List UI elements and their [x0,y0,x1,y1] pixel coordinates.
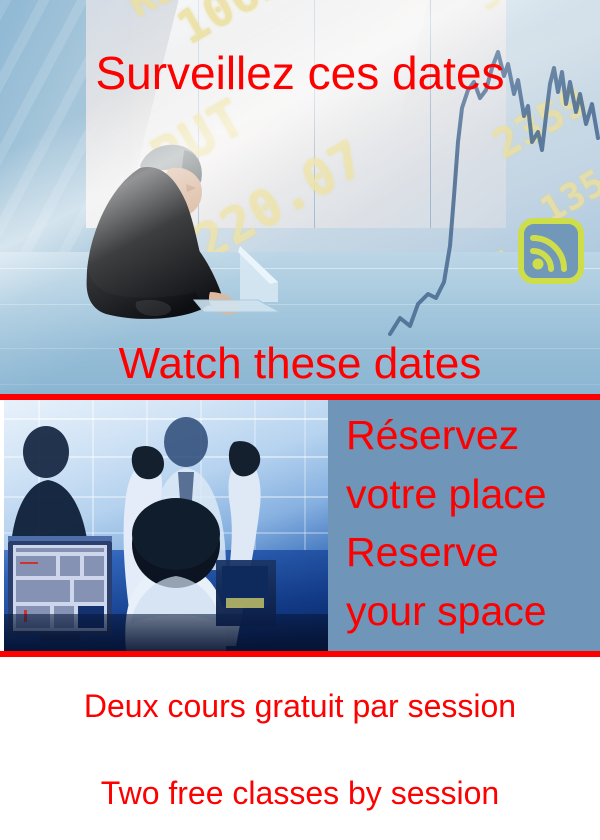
bottom-text-section: Deux cours gratuit par session Two free … [0,657,600,840]
rss-feed-icon[interactable] [518,218,584,284]
bottom-line-english: Two free classes by session [0,777,600,809]
panel-line-3: Reserve [346,532,499,573]
headline-french: Surveillez ces dates [0,50,600,96]
promo-poster: RSI1062.3537RUT220.072359KLA1354 [0,0,600,840]
panel-line-2: votre place [346,474,547,515]
reserve-panel: Réservez votre place Reserve your space [328,400,600,651]
bottom-line-french: Deux cours gratuit par session [0,690,600,722]
headline-english: Watch these dates [0,342,600,386]
middle-band: Réservez votre place Reserve your space [0,400,600,651]
trader-celebration-photo [4,400,328,651]
top-photo-band: RSI1062.3537RUT220.072359KLA1354 [0,0,600,396]
panel-line-4: your space [346,591,547,632]
panel-line-1: Réservez [346,415,519,456]
